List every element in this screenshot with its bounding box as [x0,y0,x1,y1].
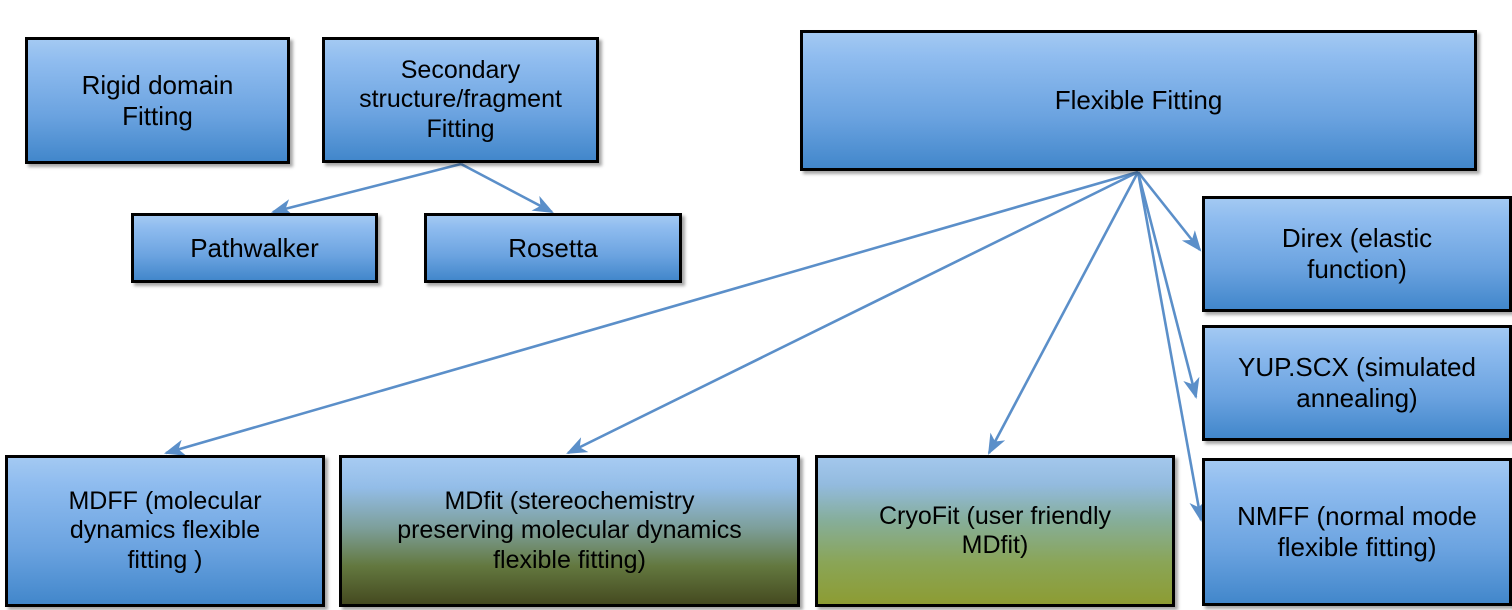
node-mdff[interactable]: MDFF (molecular dynamics flexible fittin… [5,455,325,607]
node-label-secondary-structure-fragment-fitting: Secondary structure/fragment Fitting [325,56,596,145]
node-nmff[interactable]: NMFF (normal mode flexible fitting) [1202,458,1512,606]
arrow-flexible-to-cryofit [989,172,1138,453]
node-label-yup-scx: YUP.SCX (simulated annealing) [1205,352,1509,413]
node-label-cryofit: CryoFit (user friendly MDfit) [818,502,1172,561]
node-yup-scx[interactable]: YUP.SCX (simulated annealing) [1202,325,1512,441]
node-label-pathwalker: Pathwalker [134,233,375,264]
node-rigid-domain-fitting[interactable]: Rigid domain Fitting [25,37,290,164]
node-cryofit[interactable]: CryoFit (user friendly MDfit) [815,455,1175,607]
node-pathwalker[interactable]: Pathwalker [131,213,378,283]
arrow-flexible-to-direx [1138,172,1200,250]
arrow-secondary-to-rosetta [461,164,552,212]
node-mdfit[interactable]: MDfit (stereochemistry preserving molecu… [339,455,800,607]
diagram-canvas: Rigid domain FittingSecondary structure/… [0,0,1512,610]
node-secondary-structure-fragment-fitting[interactable]: Secondary structure/fragment Fitting [322,37,599,163]
node-label-nmff: NMFF (normal mode flexible fitting) [1205,501,1509,562]
node-label-mdfit: MDfit (stereochemistry preserving molecu… [342,487,797,576]
node-label-flexible-fitting: Flexible Fitting [803,85,1474,116]
node-label-rigid-domain-fitting: Rigid domain Fitting [28,70,287,131]
arrow-flexible-to-yupscx [1138,172,1196,397]
node-flexible-fitting[interactable]: Flexible Fitting [800,30,1477,171]
arrow-secondary-to-pathwalker [273,164,461,212]
node-label-rosetta: Rosetta [427,233,679,264]
node-direx[interactable]: Direx (elastic function) [1202,196,1512,312]
node-label-direx: Direx (elastic function) [1205,223,1509,284]
node-rosetta[interactable]: Rosetta [424,213,682,283]
node-label-mdff: MDFF (molecular dynamics flexible fittin… [8,487,322,576]
